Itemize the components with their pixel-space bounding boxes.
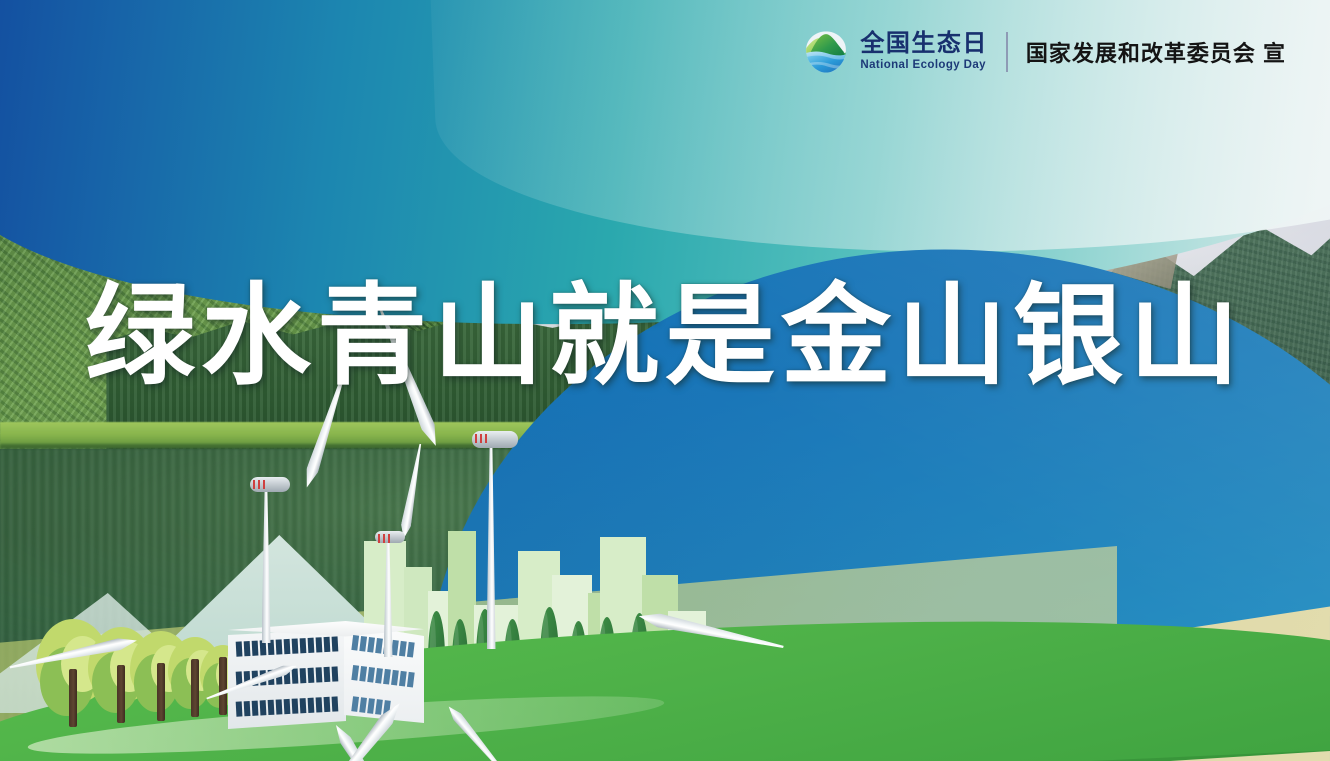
wind-turbine [256, 483, 276, 643]
logo-text-block: 全国生态日 National Ecology Day [860, 32, 988, 72]
turbine-hub [472, 431, 518, 448]
tree-trunk [191, 659, 199, 717]
logo-name-cn: 全国生态日 [860, 32, 988, 56]
turbine-hub [250, 477, 290, 492]
tree-trunk [157, 663, 165, 721]
header-divider [1006, 32, 1008, 72]
header-logo-block: 全国生态日 National Ecology Day 国家发展和改革委员会 宣 [804, 30, 1286, 74]
flat-illustration [0, 461, 1330, 761]
mountain-water-logo-icon [804, 30, 848, 74]
tree-trunk [117, 665, 125, 723]
tree-trunk [219, 657, 227, 715]
turbine-mast [384, 537, 393, 657]
turbine-hub [375, 531, 405, 543]
wind-turbine [380, 537, 396, 657]
wind-turbine [480, 437, 502, 649]
turbine-mast [262, 483, 271, 643]
page-title: 绿水青山就是金山银山 [0, 246, 1330, 406]
issuing-organization: 国家发展和改革委员会 宣 [1026, 36, 1286, 68]
poster-canvas: 全国生态日 National Ecology Day 国家发展和改革委员会 宣 … [0, 0, 1330, 761]
turbine-mast [487, 437, 496, 649]
tree-trunk [69, 669, 77, 727]
logo-name-en: National Ecology Day [860, 60, 988, 72]
